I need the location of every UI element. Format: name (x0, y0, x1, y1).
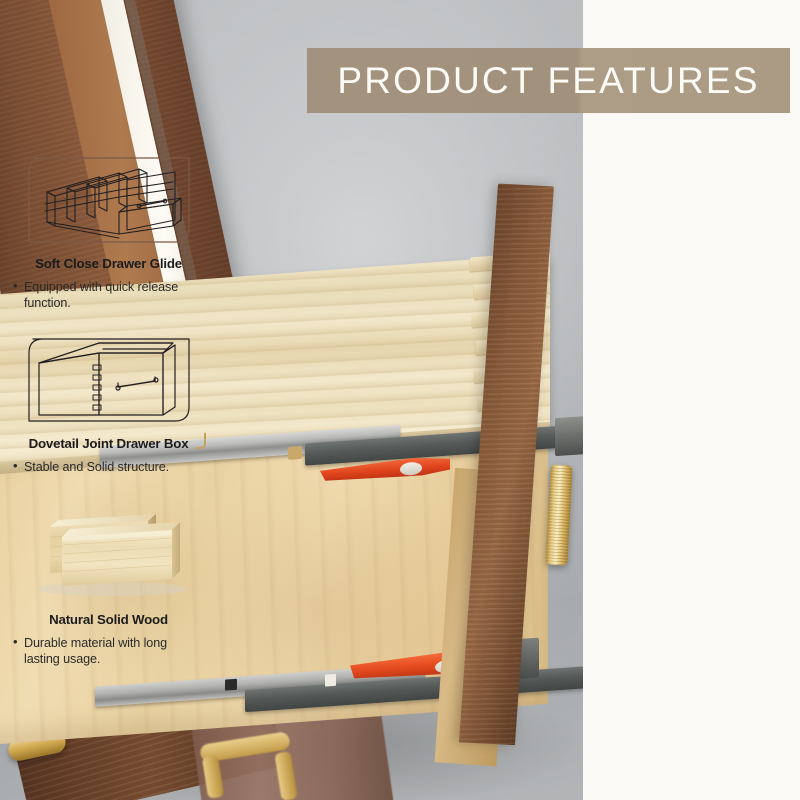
page-title: PRODUCT FEATURES (337, 60, 759, 102)
drawer-glide-icon (12, 152, 205, 250)
rail-end-bracket (555, 413, 583, 456)
feature-bullet: Durable material with long lasting usage… (12, 635, 205, 667)
feature-block-natural-solid-wood: Natural Solid Wood Durable material with… (0, 508, 217, 667)
rail-peg (288, 446, 302, 460)
feature-title: Dovetail Joint Drawer Box (12, 436, 205, 452)
product-features-infographic: PRODUCT FEATURES (0, 0, 800, 800)
feature-title: Soft Close Drawer Glide (12, 256, 205, 272)
feature-bullet-list: Durable material with long lasting usage… (12, 635, 205, 667)
features-panel (583, 0, 800, 800)
rail-marker-dark (225, 679, 237, 691)
feature-bullet: Equipped with quick release function. (12, 279, 205, 311)
feature-block-soft-close-drawer-glide: Soft Close Drawer Glide Equipped with qu… (0, 152, 217, 311)
feature-block-dovetail-joint-drawer-box: Dovetail Joint Drawer Box Stable and Sol… (0, 332, 217, 475)
rail-marker-light (325, 674, 336, 687)
feature-title: Natural Solid Wood (12, 612, 205, 628)
dovetail-drawer-box-icon (12, 332, 205, 430)
header-banner: PRODUCT FEATURES (307, 48, 790, 113)
feature-bullet-list: Stable and Solid structure. (12, 459, 205, 475)
feature-bullet: Stable and Solid structure. (12, 459, 205, 475)
feature-bullet-list: Equipped with quick release function. (12, 279, 205, 311)
solid-wood-planks-icon (12, 508, 205, 600)
